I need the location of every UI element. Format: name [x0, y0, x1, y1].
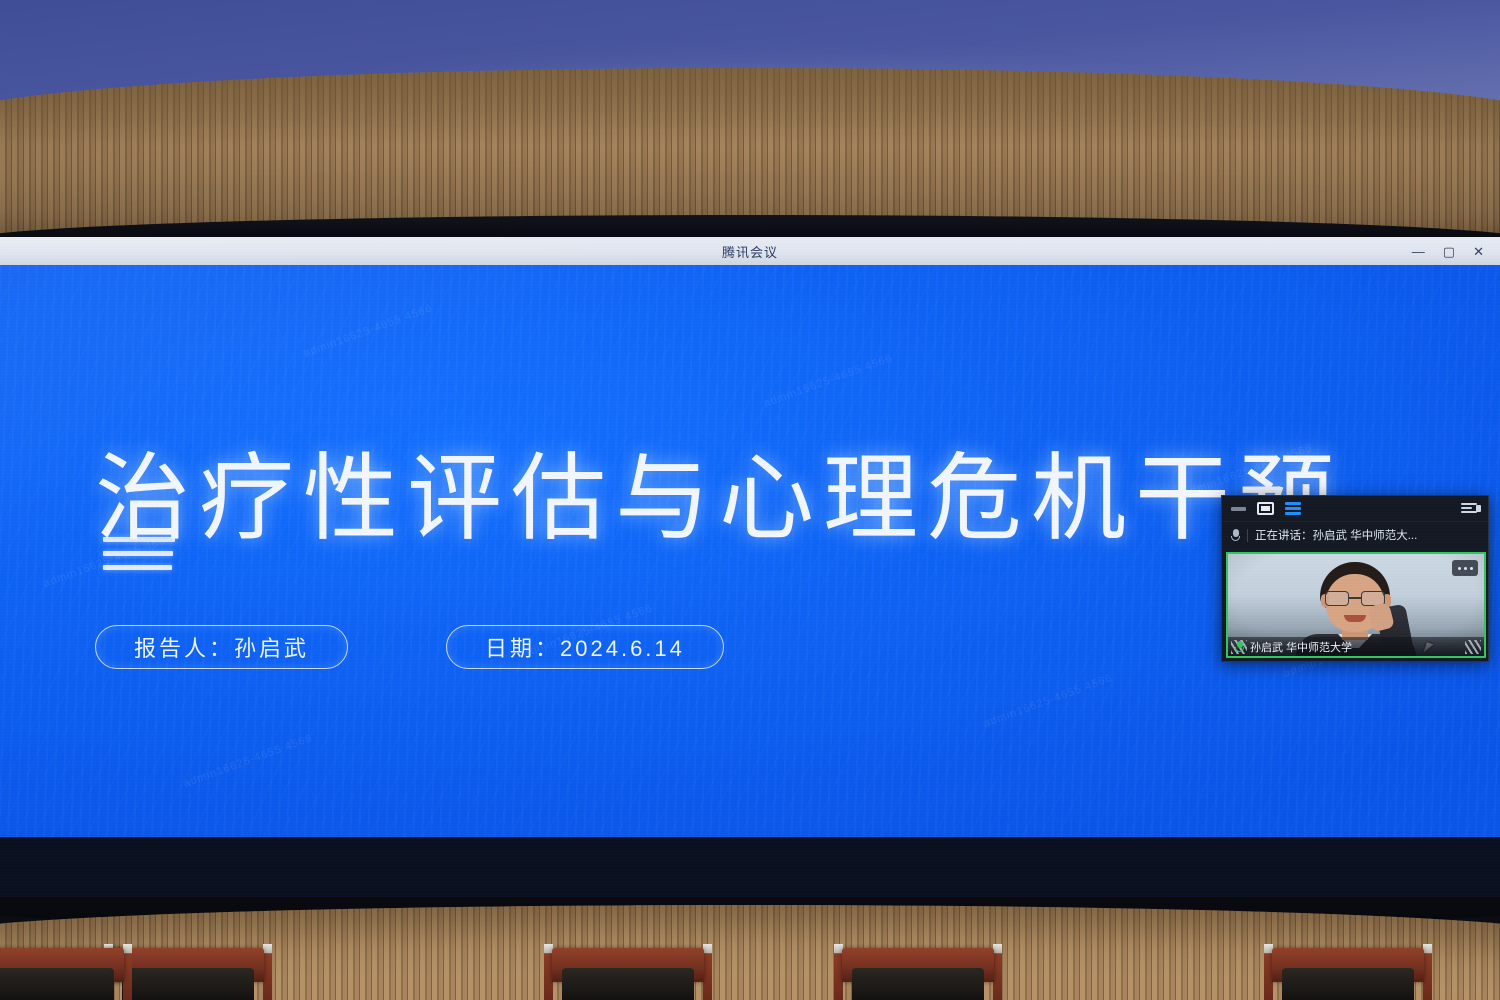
- speaking-status-bar: 正在讲话：孙启武 华中师范大...: [1222, 522, 1488, 548]
- chair: [0, 940, 136, 1000]
- slide-meta-pills: 报告人：孙启武 日期：2024.6.14: [95, 625, 724, 669]
- list-view-icon[interactable]: [1285, 502, 1301, 515]
- close-icon[interactable]: ✕: [1473, 245, 1484, 258]
- shared-screen: 腾讯会议 — ▢ ✕ admin16625-4655 4566 admin166…: [0, 237, 1500, 897]
- participant-video-tile[interactable]: 孙启武 华中师范大学: [1226, 552, 1486, 658]
- meeting-panel-toolbar: [1222, 496, 1488, 522]
- date-pill: 日期：2024.6.14: [446, 625, 724, 669]
- participant-name-bar: 孙启武 华中师范大学: [1228, 637, 1484, 656]
- chair: [540, 940, 716, 1000]
- minimize-icon[interactable]: —: [1412, 245, 1425, 258]
- watermark: admin16625-4655 4566: [522, 602, 654, 660]
- watermark: admin16625-4655 4566: [302, 302, 434, 360]
- watermark: admin16625-4655 4566: [1182, 442, 1314, 500]
- expand-panel-icon[interactable]: [1461, 502, 1479, 515]
- watermark: admin16625-4655 4566: [42, 532, 174, 590]
- microphone-active-icon: [1235, 641, 1244, 653]
- watermark: admin16625-4655 4566: [762, 352, 894, 410]
- window-controls: — ▢ ✕: [1412, 237, 1494, 265]
- hamburger-decoration-icon: [103, 537, 175, 579]
- watermark: admin16625-4655 4566: [982, 672, 1114, 730]
- gallery-view-icon[interactable]: [1257, 502, 1274, 515]
- divider: [1247, 529, 1248, 542]
- video-more-options-icon[interactable]: [1452, 560, 1478, 576]
- microphone-icon: [1231, 529, 1240, 542]
- window-title-bar: 腾讯会议 — ▢ ✕: [0, 237, 1500, 265]
- chair: [830, 940, 1006, 1000]
- window-title: 腾讯会议: [722, 242, 778, 261]
- slide-title: 治疗性评估与心理危机干预: [95, 450, 1415, 550]
- presenter-pill: 报告人：孙启武: [95, 625, 348, 669]
- chair: [1260, 940, 1436, 1000]
- chair-row: [0, 940, 1500, 1000]
- maximize-icon[interactable]: ▢: [1443, 245, 1455, 258]
- corner-decoration: [1465, 640, 1481, 654]
- participant-name: 孙启武 华中师范大学: [1250, 639, 1352, 655]
- watermark: admin16625-4655 4566: [182, 732, 314, 790]
- minimize-icon[interactable]: [1231, 507, 1246, 511]
- meeting-floating-panel[interactable]: 正在讲话：孙启武 华中师范大... 孙启武 华中: [1221, 495, 1489, 662]
- speaking-label: 正在讲话：孙启武 华中师范大...: [1255, 527, 1417, 543]
